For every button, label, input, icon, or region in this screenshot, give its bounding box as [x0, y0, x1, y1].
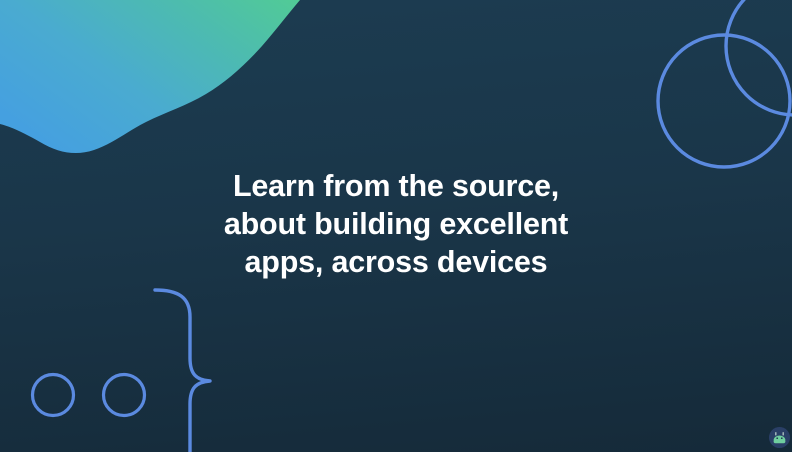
page-title: Learn from the source, about building ex…	[0, 167, 792, 281]
android-developers-logo	[769, 427, 790, 448]
gradient-blob	[0, 0, 300, 153]
curly-brace-outline	[155, 290, 210, 452]
dot-circle-outline-right	[104, 375, 145, 416]
presentation-slide: Learn from the source, about building ex…	[0, 0, 792, 452]
small-circle-outline	[726, 0, 792, 115]
large-circle-outline	[658, 35, 790, 167]
android-robot-icon	[769, 427, 790, 448]
dot-circle-outline-left	[33, 375, 74, 416]
